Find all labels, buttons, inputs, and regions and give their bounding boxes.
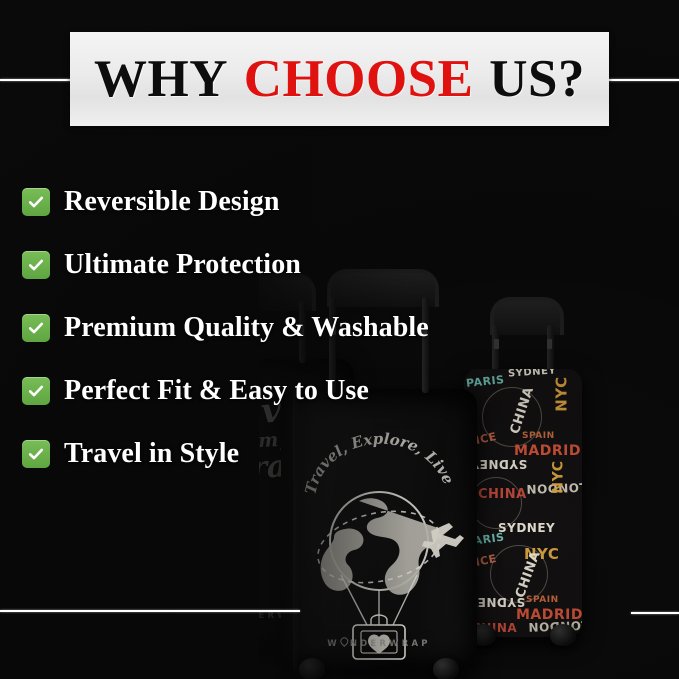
title-word-choose: CHOOSE — [243, 50, 475, 108]
header-rule-left — [0, 79, 72, 81]
page-title: WHY CHOOSE US? — [93, 53, 586, 106]
footer-rule-left — [0, 610, 300, 612]
feature-item-ultimate-protection: Ultimate Protection — [22, 233, 542, 296]
wheel — [433, 658, 459, 679]
pin-icon — [338, 636, 349, 647]
wheel — [299, 658, 325, 679]
feature-item-travel-in-style: Travel in Style — [22, 422, 542, 485]
title-word-why: WHY — [93, 50, 229, 108]
title-word-us: US? — [488, 50, 586, 108]
check-icon — [22, 251, 50, 279]
header-banner: WHY CHOOSE US? — [70, 32, 609, 126]
check-icon — [22, 377, 50, 405]
check-icon — [22, 188, 50, 216]
feature-item-perfect-fit: Perfect Fit & Easy to Use — [22, 359, 542, 422]
feature-label: Travel in Style — [64, 438, 239, 470]
check-icon — [22, 440, 50, 468]
footer-rule-right — [631, 612, 679, 614]
header-rule-right — [607, 79, 679, 81]
feature-label: Reversible Design — [64, 186, 280, 218]
check-icon — [22, 314, 50, 342]
feature-list: Reversible Design Ultimate Protection Pr… — [22, 170, 542, 485]
feature-label: Ultimate Protection — [64, 249, 301, 281]
poster-canvas: PARIS SYDNEY NYC CHINA SPAIN MADRID NICE… — [0, 0, 679, 679]
feature-label: Premium Quality & Washable — [64, 312, 429, 344]
suitcase-center-brand: WONDERWRAPWNDERWRAP — [281, 638, 477, 649]
feature-item-reversible-design: Reversible Design — [22, 170, 542, 233]
feature-label: Perfect Fit & Easy to Use — [64, 375, 369, 407]
feature-item-premium-quality: Premium Quality & Washable — [22, 296, 542, 359]
wheel — [550, 624, 576, 646]
